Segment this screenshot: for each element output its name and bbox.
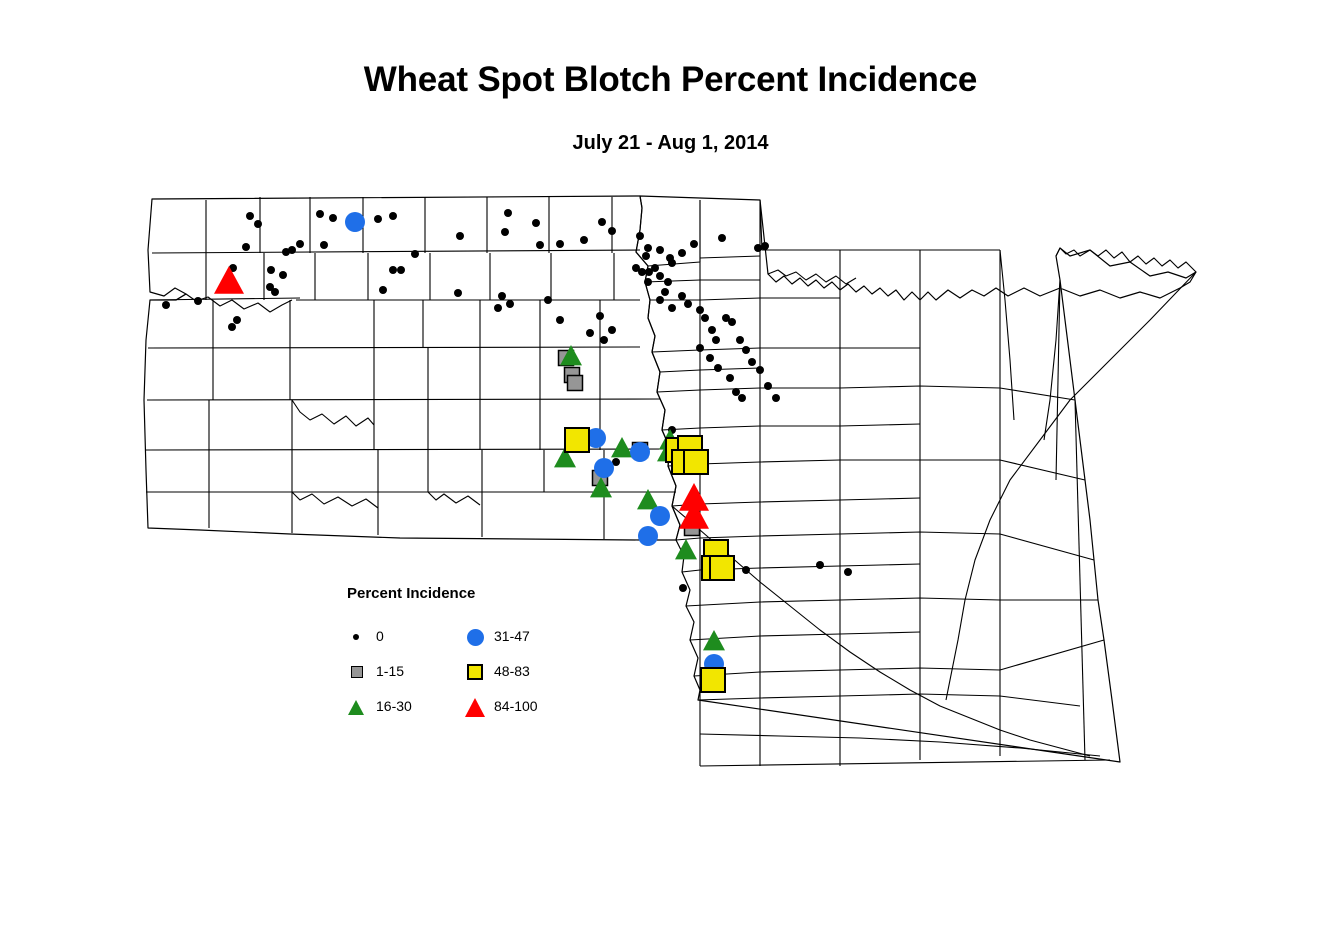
map-point-0 [718, 234, 726, 242]
map-point-0 [678, 249, 686, 257]
map-point-0 [668, 304, 676, 312]
map-point-48-83 [710, 556, 734, 580]
map-point-31-47 [345, 212, 365, 232]
map-point-0 [668, 259, 676, 267]
map-point-31-47 [650, 506, 670, 526]
map-point-0 [754, 244, 762, 252]
map-point-48-83 [701, 668, 725, 692]
map-point-0 [608, 227, 616, 235]
map-point-0 [544, 296, 552, 304]
legend-symbol-green-triangle [344, 695, 372, 719]
map-point-16-30 [703, 630, 725, 650]
map-point-0 [679, 584, 687, 592]
map-point-0 [556, 240, 564, 248]
legend-symbol-gray-square [344, 660, 372, 684]
map-point-31-47 [594, 458, 614, 478]
legend-label-0: 0 [376, 628, 384, 644]
map-point-0 [636, 232, 644, 240]
map-point-0 [696, 344, 704, 352]
legend-label-84-100: 84-100 [494, 698, 538, 714]
map-point-0 [266, 283, 274, 291]
map-point-0 [728, 318, 736, 326]
map-point-0 [600, 336, 608, 344]
map-point-0 [608, 326, 616, 334]
map-point-0 [194, 297, 202, 305]
map-point-0 [397, 266, 405, 274]
map-point-0 [696, 306, 704, 314]
map-point-0 [532, 219, 540, 227]
map-point-0 [233, 316, 241, 324]
map-point-0 [162, 301, 170, 309]
map-point-0 [267, 266, 275, 274]
map-point-0 [288, 246, 296, 254]
map-point-0 [454, 289, 462, 297]
map-point-0 [656, 296, 664, 304]
map-point-0 [320, 241, 328, 249]
map-point-0 [684, 300, 692, 308]
map-point-0 [296, 240, 304, 248]
map-point-0 [556, 316, 564, 324]
map-point-0 [246, 212, 254, 220]
map-point-0 [764, 382, 772, 390]
map-point-0 [389, 266, 397, 274]
map-point-0 [638, 268, 646, 276]
map-point-48-83 [684, 450, 708, 474]
map-point-0 [586, 329, 594, 337]
map-point-0 [706, 354, 714, 362]
map-point-0 [501, 228, 509, 236]
map-point-48-83 [565, 428, 589, 452]
map-point-0 [536, 241, 544, 249]
map-point-16-30 [611, 437, 633, 457]
map-point-0 [642, 252, 650, 260]
map-point-0 [379, 286, 387, 294]
map-point-0 [772, 394, 780, 402]
map-point-0 [316, 210, 324, 218]
map-point-0 [596, 312, 604, 320]
map-point-0 [736, 336, 744, 344]
map-point-0 [708, 326, 716, 334]
legend-label-31-47: 31-47 [494, 628, 530, 644]
legend-symbol-blue-circle [462, 625, 490, 649]
legend-label-16-30: 16-30 [376, 698, 412, 714]
legend-title: Percent Incidence [347, 585, 475, 602]
map-point-0 [374, 215, 382, 223]
legend-label-1-15: 1-15 [376, 663, 404, 679]
map-point-0 [506, 300, 514, 308]
map-svg [0, 0, 1341, 926]
map-point-0 [738, 394, 746, 402]
map-point-0 [761, 242, 769, 250]
map-point-0 [254, 220, 262, 228]
map-point-0 [748, 358, 756, 366]
map-point-84-100 [214, 266, 244, 294]
map-point-0 [228, 323, 236, 331]
map-point-0 [279, 271, 287, 279]
map-legend: Percent Incidence 0 1-15 16-30 31-47 48-… [344, 585, 574, 710]
map-point-0 [726, 374, 734, 382]
map-point-0 [678, 292, 686, 300]
map-point-31-47 [638, 526, 658, 546]
map-point-0 [580, 236, 588, 244]
map-point-16-30 [675, 539, 697, 559]
map-point-0 [690, 240, 698, 248]
map-point-0 [456, 232, 464, 240]
legend-symbol-yellow-square [462, 660, 490, 684]
legend-label-48-83: 48-83 [494, 663, 530, 679]
map-point-0 [598, 218, 606, 226]
map-point-0 [661, 288, 669, 296]
map-point-0 [651, 264, 659, 272]
map-point-0 [329, 214, 337, 222]
map-point-0 [411, 250, 419, 258]
map-point-0 [498, 292, 506, 300]
map-point-0 [656, 272, 664, 280]
map-point-0 [494, 304, 502, 312]
map-point-0 [756, 366, 764, 374]
map-point-0 [742, 566, 750, 574]
map-point-0 [742, 346, 750, 354]
legend-symbol-red-triangle [462, 695, 490, 719]
map-point-1-15 [568, 376, 583, 391]
map-point-0 [714, 364, 722, 372]
map-point-0 [656, 246, 664, 254]
map-point-0 [844, 568, 852, 576]
map-point-0 [242, 243, 250, 251]
map-point-0 [712, 336, 720, 344]
map-point-0 [701, 314, 709, 322]
map-point-31-47 [630, 442, 650, 462]
map-point-0 [389, 212, 397, 220]
map-point-0 [504, 209, 512, 217]
map-canvas [0, 0, 1341, 926]
legend-symbol-small-black-dot [344, 625, 372, 649]
map-point-0 [644, 244, 652, 252]
map-point-0 [816, 561, 824, 569]
map-point-0 [732, 388, 740, 396]
map-point-0 [644, 278, 652, 286]
map-point-0 [664, 278, 672, 286]
